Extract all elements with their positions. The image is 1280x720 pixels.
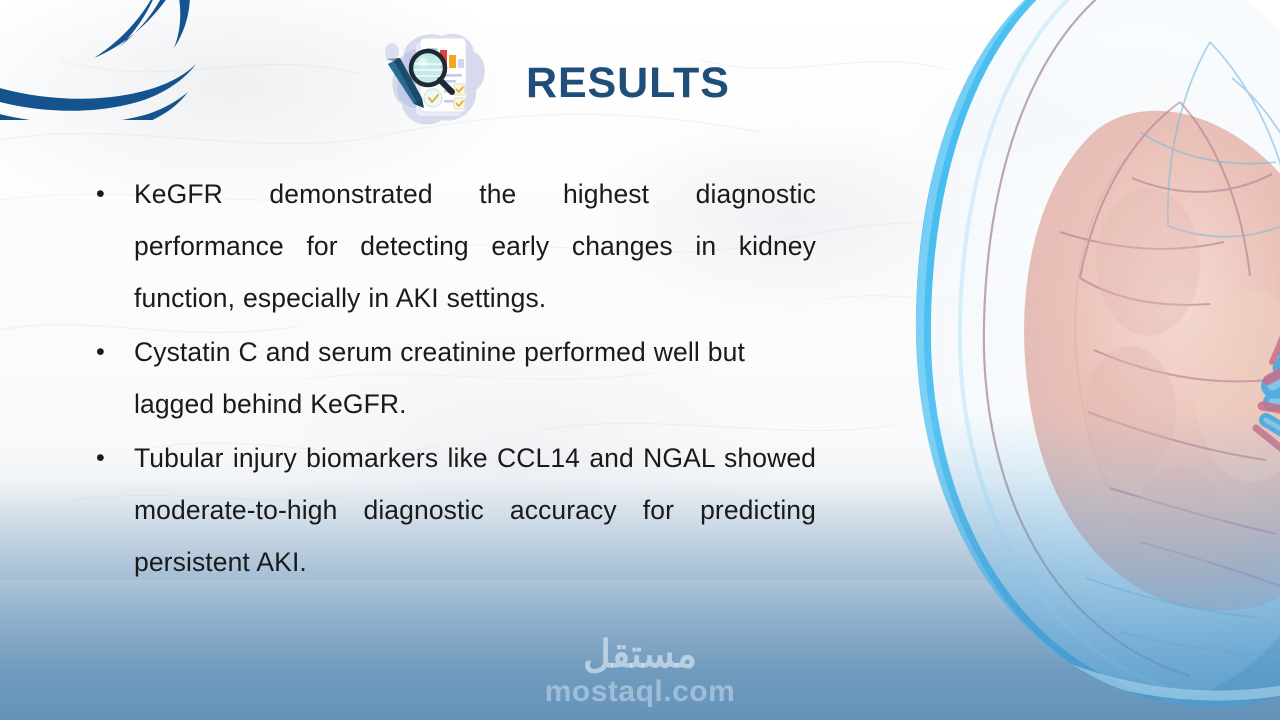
list-item: • Tubular injury biomarkers like CCL14 a…: [96, 432, 816, 588]
page-title: RESULTS: [526, 62, 730, 105]
slide-canvas: RESULTS • KeGFR demonstrated the highest…: [0, 0, 1280, 720]
bullet-text: Cystatin C and serum creatinine performe…: [134, 326, 816, 430]
list-item: • KeGFR demonstrated the highest diagnos…: [96, 168, 816, 324]
report-analysis-icon: [380, 28, 490, 138]
results-bullet-list: • KeGFR demonstrated the highest diagnos…: [96, 168, 816, 590]
kidney-anatomy-illustration: [880, 0, 1280, 720]
bullet-text: KeGFR demonstrated the highest diagnosti…: [134, 168, 816, 324]
bullet-marker-icon: •: [96, 326, 134, 378]
list-item: • Cystatin C and serum creatinine perfor…: [96, 326, 816, 430]
bullet-marker-icon: •: [96, 168, 134, 220]
blue-swoosh-decoration: [0, 0, 256, 120]
slide-header: RESULTS: [380, 28, 730, 138]
bullet-marker-icon: •: [96, 432, 134, 484]
bullet-text: Tubular injury biomarkers like CCL14 and…: [134, 432, 816, 588]
